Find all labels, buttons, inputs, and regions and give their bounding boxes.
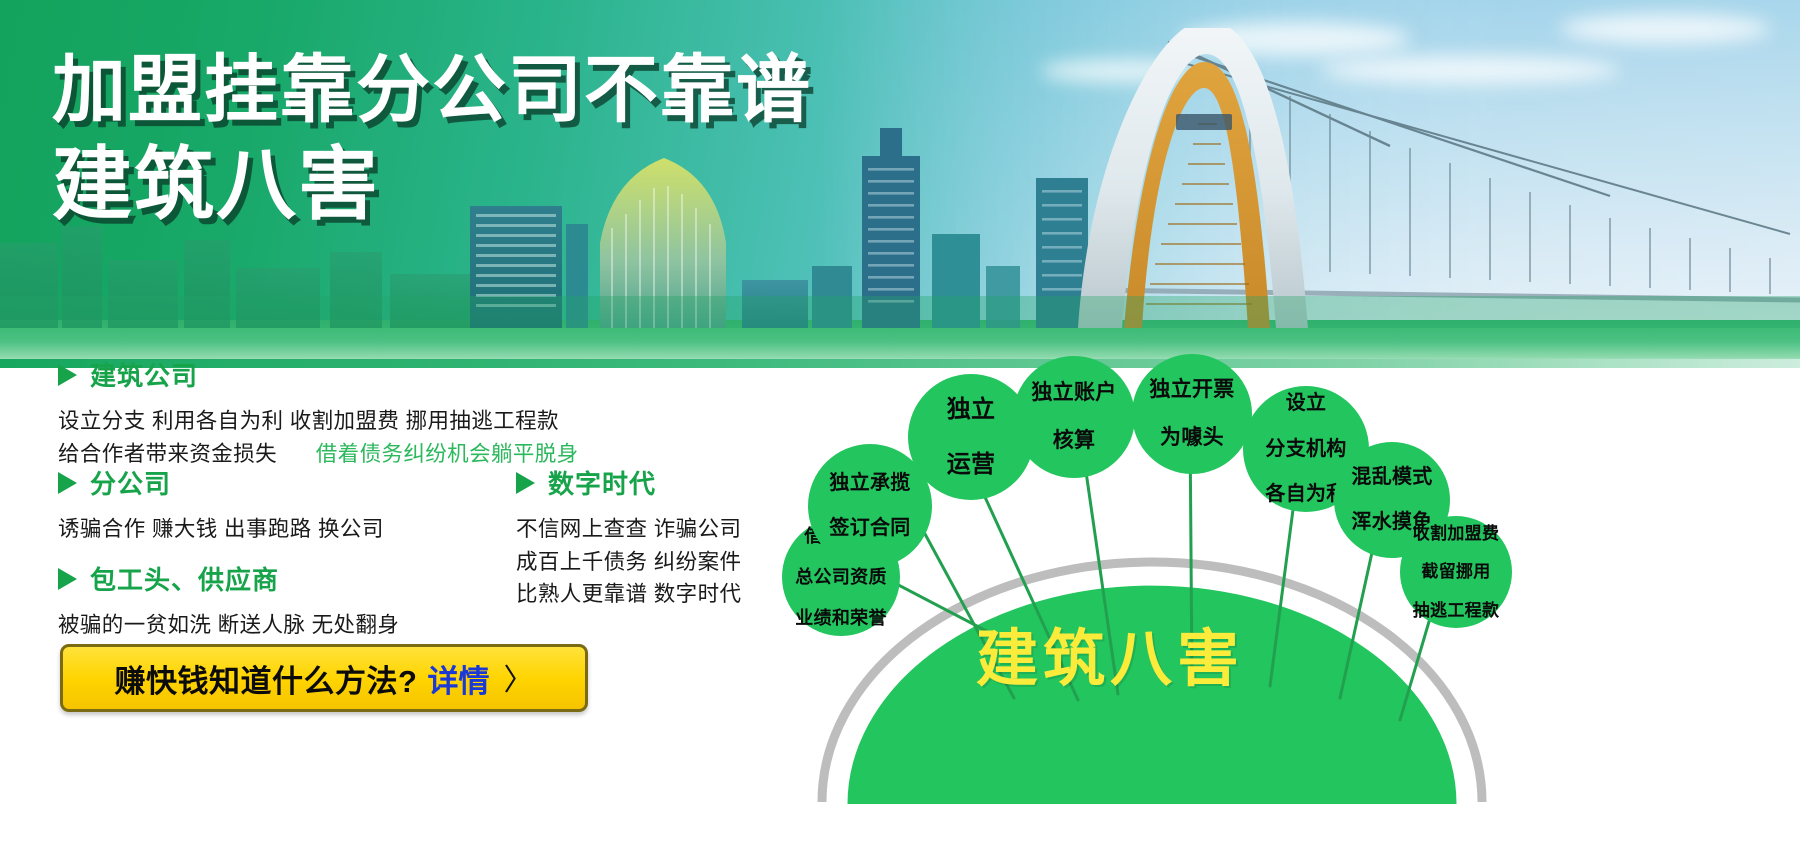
bubble-item[interactable]: 独立 运营 <box>908 374 1034 500</box>
section-contractor-supplier: 包工头、供应商 被骗的一贫如洗 断送人脉 无处翻身 <box>58 560 399 642</box>
bubble-item[interactable]: 收割加盟费 截留挪用 抽逃工程款 <box>1400 516 1512 628</box>
triangle-bullet-icon <box>58 568 77 590</box>
section-construction-company: 建筑公司 设立分支 利用各自为利 收割加盟费 挪用抽逃工程款 给合作者带来资金损… <box>58 356 579 470</box>
section-body: 设立分支 利用各自为利 收割加盟费 挪用抽逃工程款 给合作者带来资金损失 借着债… <box>58 405 579 470</box>
body-line: 诱骗合作 赚大钱 出事跑路 换公司 <box>58 513 384 546</box>
triangle-bullet-icon <box>516 472 535 494</box>
left-content-column: 建筑公司 设立分支 利用各自为利 收割加盟费 挪用抽逃工程款 给合作者带来资金损… <box>0 368 800 844</box>
section-title: 建筑公司 <box>90 356 198 393</box>
section-header: 数字时代 <box>516 464 741 501</box>
page-title: 加盟挂靠分公司不靠谱 建筑八害 <box>52 52 812 227</box>
chevron-right-icon: 〉 <box>503 655 533 699</box>
section-header: 包工头、供应商 <box>58 560 399 597</box>
body-line: 设立分支 利用各自为利 收割加盟费 挪用抽逃工程款 <box>58 405 579 438</box>
body-line: 不信网上查查 诈骗公司 <box>516 513 741 546</box>
body-line: 成百上千债务 纠纷案件 <box>516 546 741 579</box>
body-line-plain: 给合作者带来资金损失 <box>58 442 277 466</box>
section-title: 包工头、供应商 <box>90 560 279 597</box>
section-title: 数字时代 <box>548 464 656 501</box>
section-digital-era: 数字时代 不信网上查查 诈骗公司 成百上千债务 纠纷案件 比熟人更靠谱 数字时代 <box>516 464 741 611</box>
bubble-line: 独立 运营 <box>937 396 1006 478</box>
cta-details-button[interactable]: 赚快钱知道什么方法? 详情 〉 <box>60 644 588 712</box>
eight-harms-diagram: 借着使用 总公司资质 业绩和荣誉 独立承揽 签订合同 独立 运营 独立账户 核算 <box>800 368 1800 844</box>
dome-center-label: 建筑八害 <box>976 608 1244 698</box>
cta-main-label: 赚快钱知道什么方法? <box>115 656 418 701</box>
section-body: 诱骗合作 赚大钱 出事跑路 换公司 <box>58 513 384 546</box>
section-body: 不信网上查查 诈骗公司 成百上千债务 纠纷案件 比熟人更靠谱 数字时代 <box>516 513 741 611</box>
cta-link-label: 详情 <box>427 656 489 701</box>
section-header: 分公司 <box>58 464 384 501</box>
triangle-bullet-icon <box>58 364 77 386</box>
bubble-line: 独立开票 为噱头 <box>1139 378 1244 450</box>
hero-title-line-1: 加盟挂靠分公司不靠谱 <box>52 52 812 128</box>
section-header: 建筑公司 <box>58 356 579 393</box>
triangle-bullet-icon <box>58 472 77 494</box>
bubble-line: 收割加盟费 截留挪用 抽逃工程款 <box>1403 524 1510 621</box>
bubble-item[interactable]: 独立账户 核算 <box>1013 356 1135 478</box>
section-body: 被骗的一贫如洗 断送人脉 无处翻身 <box>58 609 399 642</box>
body-line: 比熟人更靠谱 数字时代 <box>516 578 741 611</box>
hero-title-line-2: 建筑八害 <box>52 144 812 226</box>
section-branch-company: 分公司 诱骗合作 赚大钱 出事跑路 换公司 <box>58 464 384 546</box>
bubble-line: 独立账户 核算 <box>1021 381 1126 453</box>
body-line-accent: 借着债务纠纷机会躺平脱身 <box>316 442 579 466</box>
section-title: 分公司 <box>90 464 171 501</box>
bubble-line: 独立承揽 签订合同 <box>819 472 920 540</box>
bubble-item[interactable]: 独立开票 为噱头 <box>1132 354 1252 474</box>
body-line: 被骗的一贫如洗 断送人脉 无处翻身 <box>58 609 399 642</box>
poster-root: 加盟挂靠分公司不靠谱 建筑八害 建筑公司 设立分支 利用各自为利 收割加盟费 挪… <box>0 0 1800 844</box>
hero-banner: 加盟挂靠分公司不靠谱 建筑八害 <box>0 0 1800 368</box>
